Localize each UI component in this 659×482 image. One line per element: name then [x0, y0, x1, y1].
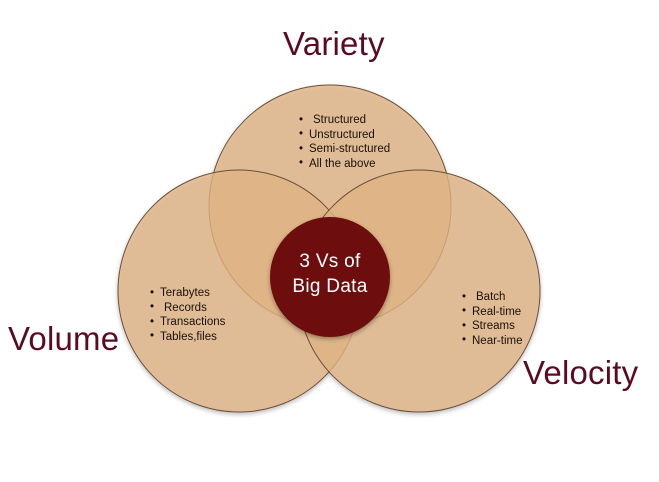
list-item: Batch: [462, 290, 522, 305]
list-item: Terabytes: [150, 286, 225, 301]
list-item: Structured: [299, 113, 390, 128]
list-item: Records: [150, 301, 225, 316]
set-title-variety: Variety: [283, 27, 385, 60]
list-item: Unstructured: [299, 128, 390, 143]
circle-center-core: [270, 217, 390, 337]
list-item: Real-time: [462, 305, 522, 320]
list-item: Streams: [462, 319, 522, 334]
set-items-velocity: Batch Real-time Streams Near-time: [462, 290, 522, 348]
list-item: All the above: [299, 157, 390, 172]
list-item: Transactions: [150, 315, 225, 330]
list-item: Near-time: [462, 334, 522, 349]
set-title-velocity: Velocity: [523, 356, 638, 389]
venn-diagram: Variety Volume Velocity Structured Unstr…: [0, 0, 659, 482]
set-items-volume: Terabytes Records Transactions Tables,fi…: [150, 286, 225, 344]
list-item: Tables,files: [150, 330, 225, 345]
list-item: Semi-structured: [299, 142, 390, 157]
set-title-volume: Volume: [8, 322, 119, 355]
set-items-variety: Structured Unstructured Semi-structured …: [299, 113, 390, 171]
venn-circles-graphic: [0, 0, 659, 482]
